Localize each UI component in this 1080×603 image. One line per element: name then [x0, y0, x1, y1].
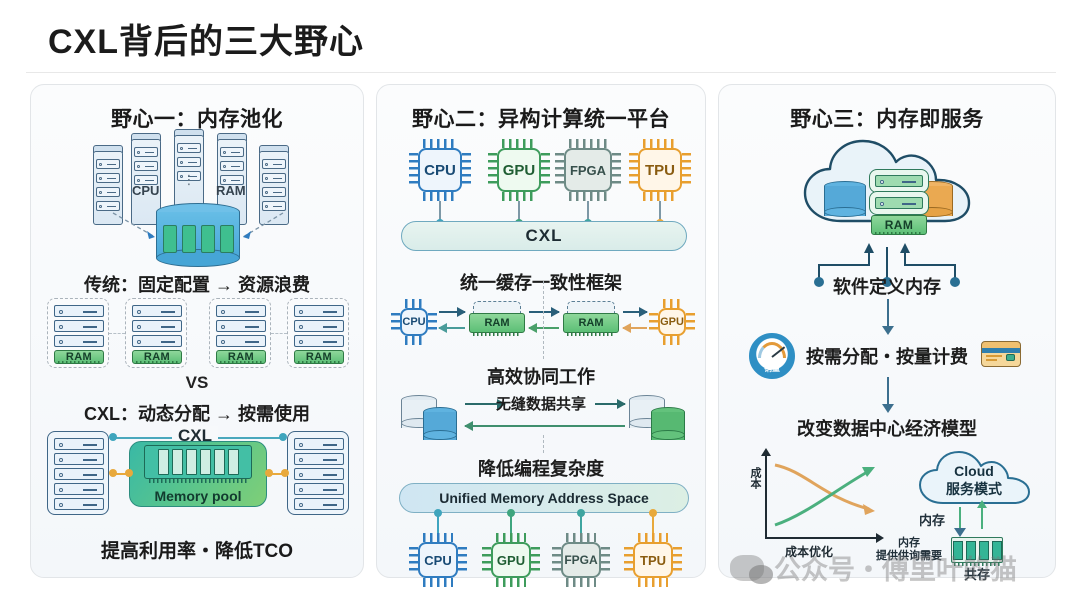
server-unit [132, 320, 182, 332]
rack-unit [177, 157, 201, 167]
panel1-vs-label: VS [31, 373, 363, 393]
server-unit [216, 320, 266, 332]
db-bottom [651, 430, 685, 440]
chip-pins-right [686, 313, 695, 331]
cxl-endpoint-dot [279, 433, 287, 441]
chip-pins-bottom [423, 578, 453, 587]
cxl-bus-bar: CXL [401, 221, 687, 251]
traditional-server-box: RAM [287, 298, 349, 368]
chip-pins-left [649, 313, 658, 331]
chip-pins-right [601, 547, 610, 573]
chip-pins-top [643, 139, 677, 148]
server-unit [54, 438, 104, 450]
cylinder-memory-chips [156, 225, 240, 253]
chip-pins-bottom [502, 192, 536, 201]
title-divider [26, 72, 1056, 73]
chip-pins-top [566, 533, 596, 542]
panel2-share-label: 无缝数据共享 [377, 393, 705, 414]
chip-pins-left [391, 313, 400, 331]
chip-pins-right [541, 153, 550, 187]
chip-pins-right [531, 547, 540, 573]
chip-pins-right [612, 153, 621, 187]
rack-unit [262, 159, 286, 169]
chip-label: GPU [497, 148, 541, 192]
card-stripe [986, 359, 997, 361]
chip-pins-bottom [405, 336, 423, 345]
server-unit [132, 305, 182, 317]
rack-unit [134, 161, 158, 171]
chip-pins-bottom [496, 578, 526, 587]
chip-pins-right [428, 313, 437, 331]
chip-pins-left [624, 547, 633, 573]
arrow-gpu-to-ram [623, 327, 647, 329]
chip-pins-top [405, 299, 423, 308]
uma-connector-dot [649, 509, 657, 517]
ram-stick: RAM [294, 350, 344, 364]
cxl-server-box [47, 431, 109, 515]
rack-unit [96, 201, 120, 211]
server-unit [54, 468, 104, 480]
rack-label-ram: RAM [216, 183, 246, 198]
pool-link-dot [109, 469, 117, 477]
cloud-server-unit [869, 191, 929, 215]
memory-up-arrow [981, 507, 983, 529]
coherence-divider [543, 281, 544, 359]
cloud-service-label: Cloud 服务模式 [915, 463, 1033, 498]
chip-pins-left [629, 153, 638, 187]
server-unit [216, 335, 266, 347]
rack-unit [262, 173, 286, 183]
server-unit [54, 320, 104, 332]
watermark-text: 公众号・傅里叶的猫 [774, 548, 1017, 587]
chip-fpga-top: FPGA [555, 139, 621, 201]
server-unit [132, 335, 182, 347]
cxl-endpoint-dot [109, 433, 117, 441]
chip-pins-left [409, 153, 418, 187]
chip-pins-bottom [566, 578, 596, 587]
chip-pins-top [569, 139, 607, 148]
server-unit [54, 483, 104, 495]
server-unit [54, 498, 104, 510]
rack-unit [220, 147, 244, 157]
chip-label: CPU [400, 308, 428, 336]
unified-memory-bar: Unified Memory Address Space [399, 483, 689, 513]
chip-pins-right [462, 153, 471, 187]
arrow-share-back [465, 425, 625, 427]
pool-link-dot [281, 469, 289, 477]
flow-arrow-1 [887, 299, 889, 327]
panel2-heading: 野心二：异构计算统一平台 [377, 103, 705, 133]
chip-label: GPU [491, 542, 531, 578]
chip-pins-right [458, 547, 467, 573]
pool-link-dot [125, 469, 133, 477]
chip-pins-top [423, 533, 453, 542]
chip-pins-left [409, 547, 418, 573]
uma-connector-dot [434, 509, 442, 517]
uma-connector-dot [507, 509, 515, 517]
rack-unit [177, 143, 201, 153]
db-bottom [423, 430, 457, 440]
panel1-cxl-line: CXL：动态分配 → 按需使用 [31, 400, 363, 426]
server-unit [294, 320, 344, 332]
rack-unit [220, 161, 244, 171]
cloud-ram-stick: RAM [871, 215, 927, 235]
chip-label: FPGA [564, 148, 612, 192]
panel3-heading: 野心三：内存即服务 [719, 103, 1055, 133]
server-unit [216, 305, 266, 317]
panel-memory-as-a-service: 野心三：内存即服务 RAM [718, 84, 1056, 578]
credit-card-icon [981, 341, 1021, 367]
chip-pins-bottom [638, 578, 668, 587]
server-unit [54, 305, 104, 317]
chip-pins-right [682, 153, 691, 187]
chip-label: CPU [418, 148, 462, 192]
panel3-step1: 软件定义内存 [719, 273, 1055, 299]
cloud-server-unit [869, 169, 929, 193]
server-unit [294, 335, 344, 347]
arrow-ram-to-ram [529, 311, 559, 313]
memory-pool-cylinder [156, 203, 240, 267]
chip-cpu-top: CPU [409, 139, 471, 201]
server-unit [54, 453, 104, 465]
wechat-icon [730, 555, 764, 581]
panel2-coherence-heading: 统一缓存一致性框架 [377, 269, 705, 295]
chip-pins-top [663, 299, 681, 308]
memory-pool-label: Memory pool [154, 488, 241, 504]
chip-gpu-coherence: GPU [649, 299, 695, 345]
server-unit [54, 335, 104, 347]
panel-heterogeneous-platform: 野心二：异构计算统一平台 CPU GPU FPGA [376, 84, 706, 578]
watermark: 公众号・傅里叶的猫 [730, 548, 1017, 587]
ram-stick: RAM [54, 350, 104, 364]
chip-pins-top [496, 533, 526, 542]
ram-node-right: RAM [563, 301, 619, 335]
rack-unit [96, 187, 120, 197]
rack-unit [96, 159, 120, 169]
panel-memory-pooling: 野心一：内存池化 [30, 84, 364, 578]
traditional-server-box: RAM [125, 298, 187, 368]
infographic-page: CXL背后的三大野心 野心一：内存池化 [0, 0, 1080, 603]
chip-label: TPU [638, 148, 682, 192]
chip-gpu-bottom: GPU [482, 533, 540, 587]
cloud-label-line2: 服务模式 [946, 481, 1002, 497]
ram-stick: RAM [216, 350, 266, 364]
ram-node-body: RAM [563, 313, 619, 333]
rack-unit [96, 173, 120, 183]
panel1-footer: 提高利用率・降低TCO [31, 536, 363, 563]
arrow-ram-to-cpu [439, 327, 465, 329]
memory-down-arrow [959, 507, 961, 529]
chip-pins-bottom [423, 192, 457, 201]
server-unit [294, 498, 344, 510]
server-unit [294, 468, 344, 480]
chip-pins-left [552, 547, 561, 573]
chip-pins-bottom [643, 192, 677, 201]
chart-y-label: 成本 [747, 467, 763, 489]
cloud-db-blue [824, 181, 866, 219]
chip-pins-top [502, 139, 536, 148]
chip-cpu-coherence: CPU [391, 299, 437, 345]
page-title: CXL背后的三大野心 [48, 14, 364, 63]
server-unit [875, 175, 923, 187]
rack-unit [134, 147, 158, 157]
arrow-ram-to-gpu [623, 311, 647, 313]
chip-pins-top [423, 139, 457, 148]
server-unit [294, 438, 344, 450]
rack-unit [262, 187, 286, 197]
panel1-traditional-line: 传统：固定配置 → 资源浪费 [31, 271, 363, 297]
ram-stick: RAM [132, 350, 182, 364]
memory-pool-dimm [144, 445, 252, 479]
chip-fpga-bottom: FPGA [552, 533, 610, 587]
collab-divider [543, 435, 544, 453]
server-unit [294, 483, 344, 495]
ram-node-body: RAM [469, 313, 525, 333]
chip-tpu-bottom: TPU [624, 533, 682, 587]
chip-pins-top [638, 533, 668, 542]
cxl-server-box [287, 431, 349, 515]
chip-label: FPGA [561, 542, 601, 578]
chip-pins-left [555, 153, 564, 187]
chip-pins-left [482, 547, 491, 573]
server-link-dashes [109, 333, 125, 334]
chip-label: CPU [418, 542, 458, 578]
uma-connector-dot [577, 509, 585, 517]
arrow-ram-from-ram [529, 327, 559, 329]
panel2-collab-heading: 高效协同工作 [377, 363, 705, 389]
chip-cpu-bottom: CPU [409, 533, 467, 587]
card-stripe [986, 355, 1002, 357]
flow-arrow-2 [887, 377, 889, 405]
db-bottom [824, 207, 866, 217]
chip-pins-right [673, 547, 682, 573]
ram-node-left: RAM [469, 301, 525, 335]
rack-unit [262, 201, 286, 211]
pool-link-dot [265, 469, 273, 477]
card-chip [1006, 354, 1015, 361]
server-unit [294, 305, 344, 317]
server-unit [294, 453, 344, 465]
memory-pool-box: Memory pool [129, 441, 267, 507]
chip-gpu-top: GPU [488, 139, 550, 201]
memory-arrow-label: 内存 [915, 513, 949, 529]
chip-label: TPU [633, 542, 673, 578]
rack-ellipsis: ⋮ [181, 177, 197, 182]
arrow-cpu-to-ram [439, 311, 465, 313]
panel3-step3: 改变数据中心经济模型 [719, 415, 1055, 441]
server-link-dashes [271, 333, 287, 334]
chip-pins-bottom [569, 192, 607, 201]
rack-label-cpu: CPU [132, 183, 159, 198]
server-unit [875, 197, 923, 209]
cloud-label-line1: Cloud [954, 463, 994, 479]
traditional-server-box: RAM [47, 298, 109, 368]
traditional-server-box: RAM [209, 298, 271, 368]
chip-pins-left [488, 153, 497, 187]
chip-pins-bottom [663, 336, 681, 345]
panel2-programming-heading: 降低编程复杂度 [377, 455, 705, 481]
chip-tpu-top: TPU [629, 139, 691, 201]
chip-label: GPU [658, 308, 686, 336]
